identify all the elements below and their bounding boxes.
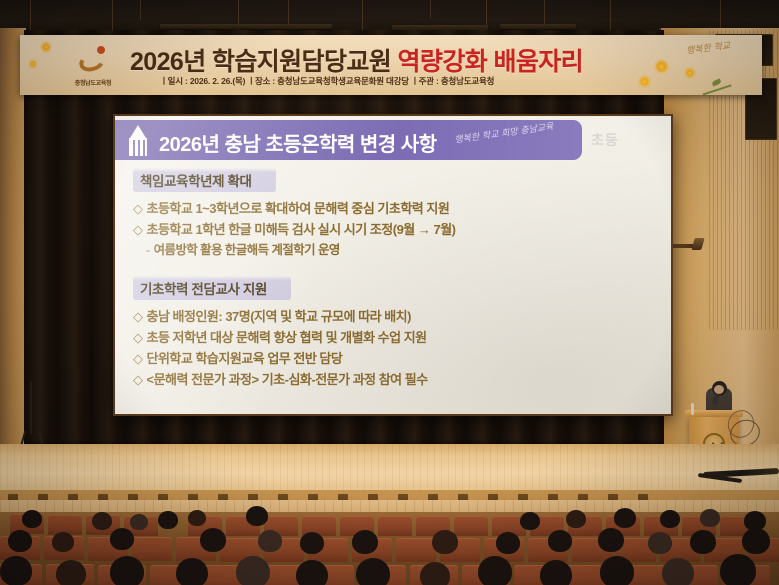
- audience-member: [92, 512, 112, 530]
- audience-member: [614, 508, 636, 528]
- bullet-item: ◇단위학교 학습지원교육 업무 전반 담당: [133, 348, 657, 369]
- audience-member: [8, 530, 32, 552]
- audience-member: [22, 510, 42, 528]
- slide-category-tag: 초등: [591, 130, 619, 150]
- diamond-bullet-icon: ◇: [133, 351, 143, 366]
- audience-member: [540, 560, 572, 585]
- section-heading: 기초학력 전담교사 지원: [133, 276, 291, 300]
- audience-member: [660, 510, 680, 528]
- audience-member: [236, 556, 270, 585]
- projection-screen: 2026년 충남 초등온학력 변경 사항 행복한 학교 희망 충남교육 초등 책…: [115, 116, 671, 414]
- microphone: [691, 403, 694, 415]
- banner-title-accent: 역량강화 배움자리: [398, 48, 584, 76]
- stage-floor: [0, 444, 779, 496]
- audience-member: [52, 532, 74, 552]
- bullet-text: 여름방학 활용 한글해득 계절학기 운영: [154, 243, 340, 257]
- diamond-bullet-icon: ◇: [133, 372, 143, 387]
- audience-member: [356, 558, 390, 585]
- audience-member: [432, 530, 458, 554]
- audience-member: [700, 509, 720, 527]
- audience-member: [720, 554, 756, 585]
- banner-decoration-right: 행복한 학교: [634, 35, 754, 95]
- diamond-bullet-icon: ◇: [133, 309, 143, 324]
- bullet-text: 초등 저학년 대상 문해력 향상 협력 및 개별화 수업 지원: [147, 330, 427, 345]
- audience-member: [420, 562, 450, 585]
- audience-member: [158, 511, 178, 529]
- bullet-item: ◇초등학교 1학년 한글 미해득 검사 실시 시기 조정(9월 → 7월): [133, 219, 657, 240]
- audience-area: [0, 512, 779, 585]
- banner-script-mark: 행복한 학교: [685, 38, 731, 56]
- audience-member: [176, 558, 208, 585]
- slide-content: 책임교육학년제 확대 ◇초등학교 1~3학년으로 확대하여 문해력 중심 기초학…: [133, 168, 657, 390]
- bullet-item: ◇초등학교 1~3학년으로 확대하여 문해력 중심 기초학력 지원: [133, 198, 657, 219]
- banner-title: 2026년 학습지원담당교원 역량강화 배움자리: [130, 42, 583, 78]
- audience-member: [352, 530, 378, 554]
- audience-member: [56, 560, 86, 585]
- bullet-item-sub: -여름방학 활용 한글해득 계절학기 운영: [133, 240, 657, 260]
- audience-member: [662, 558, 694, 585]
- bullet-item: ◇충남 배정인원: 37명(지역 및 학교 규모에 따라 배치): [133, 306, 657, 327]
- dash-bullet-icon: -: [146, 243, 150, 257]
- audience-member: [246, 506, 268, 526]
- audience-member: [598, 528, 624, 552]
- audience-member: [300, 532, 324, 554]
- projection-screen-frame: 2026년 충남 초등온학력 변경 사항 행복한 학교 희망 충남교육 초등 책…: [113, 114, 673, 416]
- lighting-rig: [160, 24, 332, 29]
- section-heading: 책임교육학년제 확대: [133, 168, 276, 192]
- wall-light-fixture: [671, 244, 701, 248]
- speaker-stand: [30, 382, 32, 434]
- event-banner: 충청남도교육청 2026년 학습지원담당교원 역량강화 배움자리 ㅣ일시 : 2…: [20, 35, 762, 95]
- diamond-bullet-icon: ◇: [133, 201, 143, 216]
- bullet-text: 초등학교 1학년 한글 미해득 검사 실시 시기 조정(9월 → 7월): [147, 222, 456, 237]
- audience-member: [188, 510, 206, 526]
- diamond-bullet-icon: ◇: [133, 330, 143, 345]
- banner-title-main: 2026년 학습지원담당교원: [130, 48, 391, 76]
- audience-member: [520, 512, 540, 530]
- banner-decoration-left: [28, 37, 62, 77]
- audience-member: [648, 532, 672, 554]
- diamond-bullet-icon: ◇: [133, 222, 143, 237]
- slide-script-mark: 행복한 학교 희망 충남교육: [454, 119, 555, 146]
- pencil-tower-icon: [127, 125, 149, 156]
- audience-member: [200, 528, 226, 552]
- lighting-rig: [500, 24, 576, 29]
- audience-member: [130, 514, 148, 530]
- bullet-item: ◇초등 저학년 대상 문해력 향상 협력 및 개별화 수업 지원: [133, 327, 657, 348]
- bullet-text: <문해력 전문가 과정> 기초-심화-전문가 과정 참여 필수: [147, 372, 428, 387]
- audience-member: [566, 510, 586, 528]
- auditorium-scene: 충청남도교육청 2026년 학습지원담당교원 역량강화 배움자리 ㅣ일시 : 2…: [0, 0, 779, 585]
- audience-member: [548, 530, 572, 552]
- audience-member: [296, 560, 328, 585]
- audience-member: [110, 556, 144, 585]
- audience-member: [690, 530, 716, 554]
- bullet-item: ◇<문해력 전문가 과정> 기초-심화-전문가 과정 참여 필수: [133, 369, 657, 390]
- banner-subtitle: ㅣ일시 : 2026. 2. 26.(목) ㅣ장소 : 충청남도교육청학생교육문…: [160, 75, 494, 87]
- audience-member: [496, 532, 520, 554]
- slide-title-bar: 2026년 충남 초등온학력 변경 사항 행복한 학교 희망 충남교육: [115, 120, 582, 160]
- audience-member: [478, 556, 512, 585]
- audience-member: [110, 528, 134, 550]
- chungnam-education-logo: 충청남도교육청: [62, 44, 124, 88]
- bullet-text: 충남 배정인원: 37명(지역 및 학교 규모에 따라 배치): [147, 309, 411, 324]
- slide-title: 2026년 충남 초등온학력 변경 사항: [159, 128, 437, 157]
- logo-label: 충청남도교육청: [62, 78, 124, 87]
- audience-member: [600, 556, 634, 585]
- bullet-text: 초등학교 1~3학년으로 확대하여 문해력 중심 기초학력 지원: [147, 201, 450, 216]
- pa-speaker-left: [22, 358, 42, 384]
- audience-member: [742, 528, 770, 554]
- presenter-face: [714, 385, 724, 394]
- audience-member: [0, 556, 32, 585]
- audience-member: [258, 530, 282, 552]
- bullet-text: 단위학교 학습지원교육 업무 전반 담당: [147, 351, 343, 366]
